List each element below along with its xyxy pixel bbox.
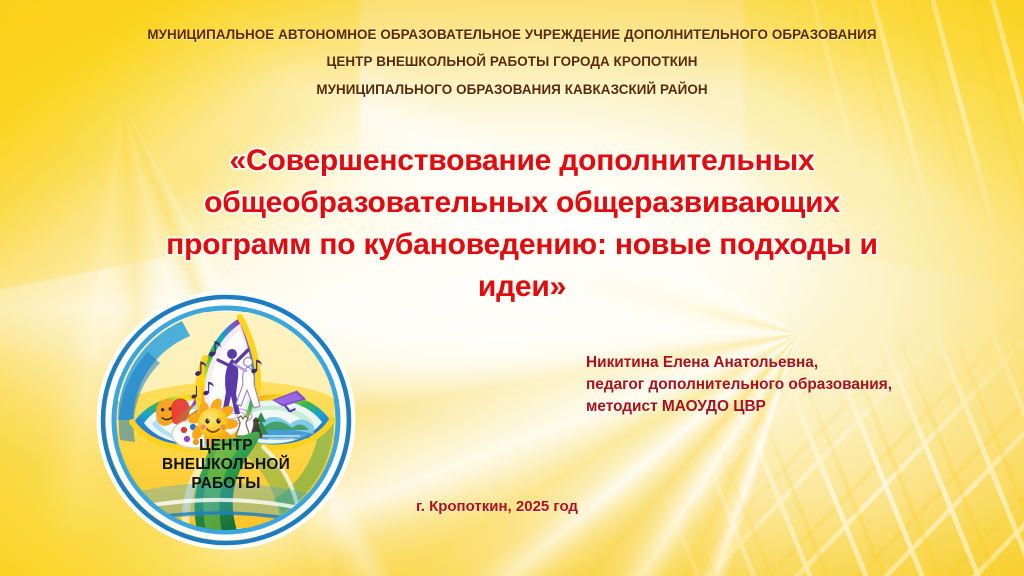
author-name: Никитина Елена Анатольевна,: [586, 352, 892, 374]
author-role: педагог дополнительного образования,: [586, 374, 892, 396]
author-credits: Никитина Елена Анатольевна, педагог допо…: [586, 352, 892, 418]
author-position: методист МАОУДО ЦВР: [586, 396, 892, 418]
cvr-logo: ЦЕНТР ВНЕШКОЛЬНОЙ РАБОТЫ: [86, 290, 366, 558]
slide-content: МУНИЦИПАЛЬНОЕ АВТОНОМНОЕ ОБРАЗОВАТЕЛЬНОЕ…: [0, 0, 1024, 576]
org-header-line-1: МУНИЦИПАЛЬНОЕ АВТОНОМНОЕ ОБРАЗОВАТЕЛЬНОЕ…: [0, 28, 1024, 41]
slide-title: «Совершенствование дополнительных общеоб…: [92, 140, 952, 308]
presentation-slide: МУНИЦИПАЛЬНОЕ АВТОНОМНОЕ ОБРАЗОВАТЕЛЬНОЕ…: [0, 0, 1024, 576]
title-line-3: программ по кубановедению: новые подходы…: [92, 224, 952, 266]
organization-header: МУНИЦИПАЛЬНОЕ АВТОНОМНОЕ ОБРАЗОВАТЕЛЬНОЕ…: [0, 28, 1024, 96]
place-and-year: г. Кропоткин, 2025 год: [416, 498, 578, 515]
title-line-1: «Совершенствование дополнительных: [92, 140, 952, 182]
org-header-line-2: ЦЕНТР ВНЕШКОЛЬНОЙ РАБОТЫ ГОРОДА КРОПОТКИ…: [0, 55, 1024, 68]
title-line-2: общеобразовательных общеразвивающих: [92, 182, 952, 224]
org-header-line-3: МУНИЦИПАЛЬНОГО ОБРАЗОВАНИЯ КАВКАЗСКИЙ РА…: [0, 83, 1024, 96]
